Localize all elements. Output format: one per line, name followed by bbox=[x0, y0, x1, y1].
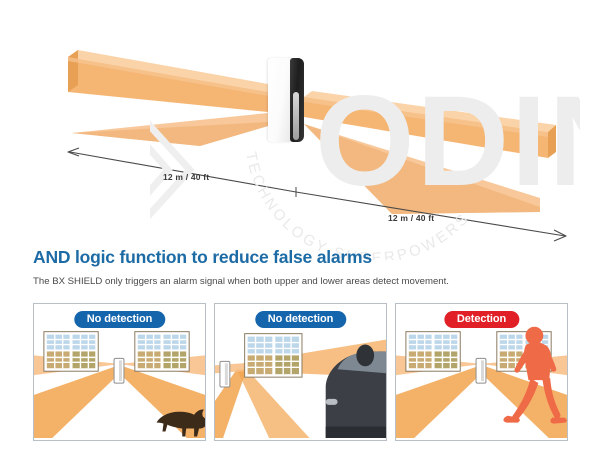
sensor-lens-strip bbox=[293, 92, 299, 140]
beam-left-lower bbox=[72, 113, 268, 146]
section-heading: AND logic function to reduce false alarm… bbox=[33, 247, 372, 268]
window-right bbox=[135, 332, 189, 372]
panel-sensor bbox=[114, 358, 124, 383]
status-badge: Detection bbox=[444, 311, 519, 328]
panel-sensor bbox=[220, 361, 230, 387]
scenario-panel-dog: No detection bbox=[33, 303, 206, 441]
status-badge: No detection bbox=[255, 311, 346, 328]
beam-left-upper bbox=[68, 50, 268, 112]
panel-sensor bbox=[476, 358, 486, 383]
status-badge: No detection bbox=[74, 311, 165, 328]
product-diagram-page: ODIN TECHNOLOGY SUPERPOWERS bbox=[0, 0, 600, 450]
scenario-panel-car: No detection bbox=[214, 303, 387, 441]
window-left bbox=[406, 332, 460, 372]
bx-shield-sensor bbox=[268, 58, 304, 142]
distance-label-right: 12 m / 40 ft bbox=[388, 213, 434, 223]
window-left bbox=[44, 332, 98, 372]
scenario-panels: No detection bbox=[33, 303, 568, 441]
scenario-panel-person: Detection bbox=[395, 303, 568, 441]
sensor-lens bbox=[290, 58, 304, 142]
section-subtext: The BX SHIELD only triggers an alarm sig… bbox=[33, 276, 449, 287]
window-left bbox=[245, 334, 302, 377]
distance-label-left: 12 m / 40 ft bbox=[163, 172, 209, 182]
